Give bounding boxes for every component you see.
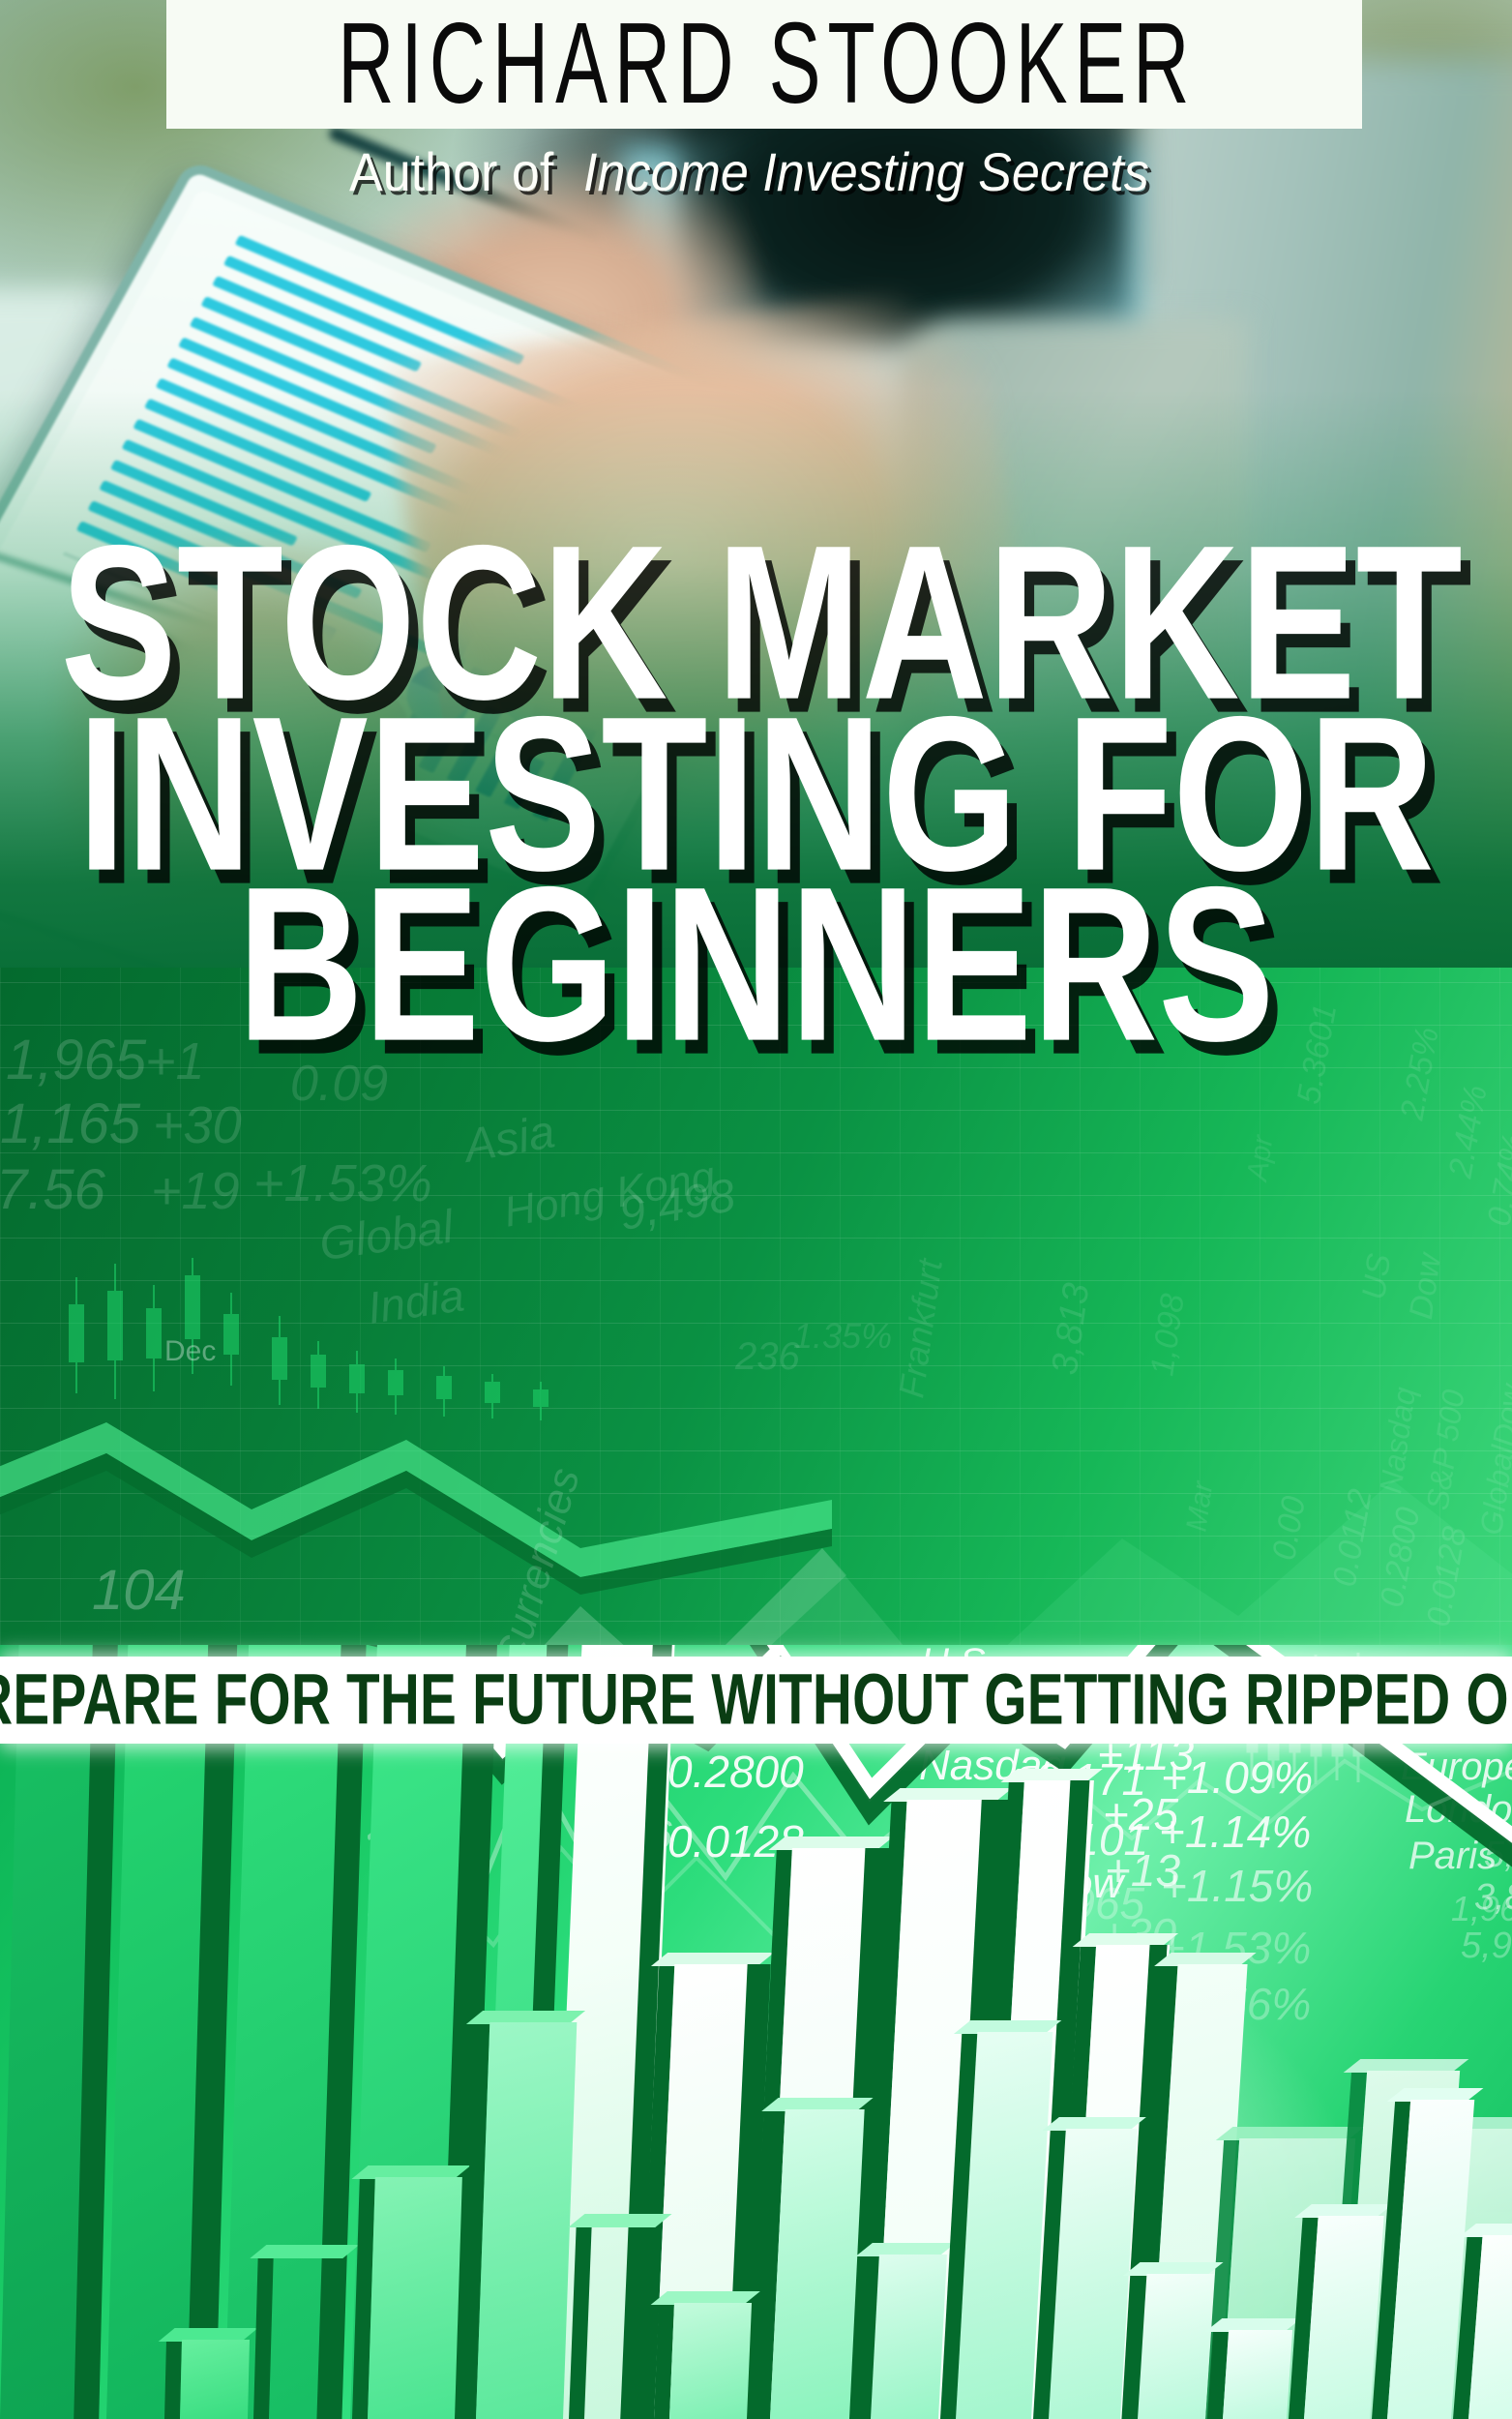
byline: Author of Income Investing Secrets (0, 140, 1512, 203)
author-name-band: RICHARD STOOKER (166, 0, 1362, 129)
bar-f15 (1468, 2235, 1512, 2419)
bar-f3 (368, 2177, 462, 2419)
byline-prefix: Author of (349, 140, 553, 203)
book-cover: 1,965 1,165 7.56 +1 +30 +19 +1.53% 0.09 … (0, 0, 1512, 2419)
bar-f8 (871, 2255, 947, 2419)
author-name: RICHARD STOOKER (332, 7, 1197, 122)
subtitle-band: PREPARE FOR THE FUTURE WITHOUT GETTING R… (0, 1657, 1512, 1744)
bar-chart-graphic: 0.00 50 0.0112 19 0.2800 36 0.0128 U.S A… (0, 1645, 1512, 2419)
byline-work-title: Income Investing Secrets (583, 140, 1149, 203)
bar-f7 (770, 2109, 865, 2419)
up-arrow-shape (416, 1490, 919, 1664)
bar-f2 (269, 2256, 351, 2419)
up-arrow-shape-right (987, 1374, 1512, 1664)
bar-f6 (669, 2303, 752, 2419)
title-line-3: BEGINNERS (61, 871, 1452, 1060)
subtitle-text: PREPARE FOR THE FUTURE WITHOUT GETTING R… (0, 1664, 1512, 1736)
bar-f4 (476, 2022, 577, 2419)
bar-f5 (584, 2225, 664, 2419)
bar-f11 (1138, 2274, 1214, 2419)
bar-f12 (1223, 2330, 1292, 2419)
page-title: STOCK MARKET INVESTING FOR BEGINNERS (0, 542, 1512, 1047)
bar-f1 (180, 2340, 250, 2419)
